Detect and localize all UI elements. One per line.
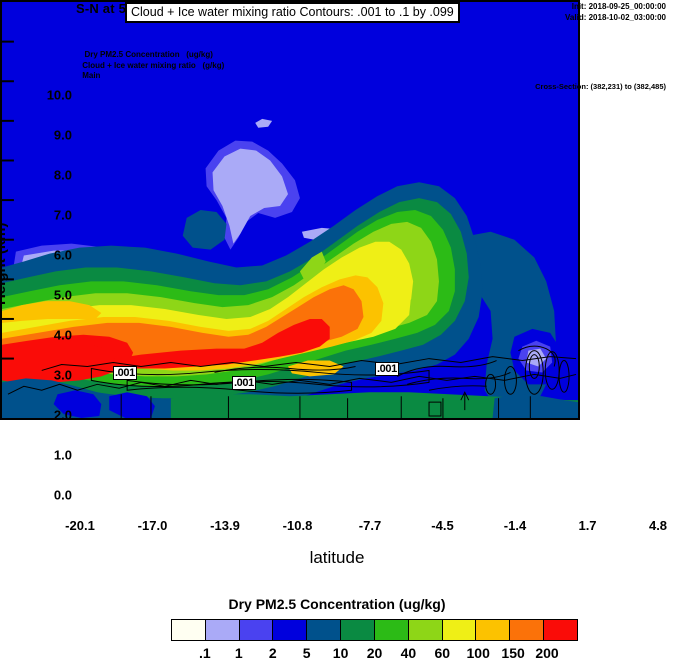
colorbar-title: Dry PM2.5 Concentration (ug/kg) — [0, 596, 674, 612]
x-tick-5: -4.5 — [431, 518, 453, 533]
x-tick-0: -20.1 — [65, 518, 95, 533]
colorbar-tick-5: 20 — [367, 645, 383, 661]
x-tick-3: -10.8 — [283, 518, 313, 533]
x-tick-1: -17.0 — [138, 518, 168, 533]
y-tick-9: 9.0 — [54, 128, 72, 143]
colorbar-tick-3: 5 — [303, 645, 311, 661]
colorbar-swatch-0 — [172, 620, 206, 640]
contour-label-3: .001 — [375, 362, 399, 376]
field-description-block: Dry PM2.5 Concentration (ug/kg) Cloud + … — [80, 50, 224, 82]
y-tick-4: 4.0 — [54, 328, 72, 343]
colorbar-tick-2: 2 — [269, 645, 277, 661]
x-tick-2: -13.9 — [210, 518, 240, 533]
colorbar-swatch-6 — [375, 620, 409, 640]
y-axis-tick-labels: 0.0 1.0 2.0 3.0 4.0 5.0 6.0 7.0 8.0 9.0 … — [0, 95, 72, 515]
colorbar-swatch-5 — [341, 620, 375, 640]
colorbar-swatch-2 — [240, 620, 274, 640]
colorbar-tick-9: 150 — [501, 645, 524, 661]
y-tick-5: 5.0 — [54, 288, 72, 303]
x-axis-tick-labels: -20.1 -17.0 -13.9 -10.8 -7.7 -4.5 -1.4 1… — [80, 518, 660, 538]
y-tick-8: 8.0 — [54, 168, 72, 183]
colorbar-swatch-3 — [273, 620, 307, 640]
valid-time-label: Valid: 2018-10-02_03:00:00 — [565, 12, 666, 23]
y-tick-2: 2.0 — [54, 408, 72, 423]
y-tick-6: 6.0 — [54, 248, 72, 263]
x-tick-7: 1.7 — [578, 518, 596, 533]
colorbar-tick-10: 200 — [535, 645, 558, 661]
y-tick-1: 1.0 — [54, 448, 72, 463]
cross-section-coords: Cross-Section: (382,231) to (382,485) — [535, 82, 666, 91]
colorbar-tick-1: 1 — [235, 645, 243, 661]
x-tick-6: -1.4 — [504, 518, 526, 533]
colorbar[interactable] — [171, 619, 578, 641]
colorbar-swatch-10 — [510, 620, 544, 640]
colorbar-swatch-7 — [409, 620, 443, 640]
colorbar-swatch-1 — [206, 620, 240, 640]
x-tick-8: 4.8 — [649, 518, 667, 533]
y-tick-0: 0.0 — [54, 488, 72, 503]
contour-label-2: .001 — [232, 376, 256, 390]
contour-legend-box: Cloud + Ice water mixing ratio Contours:… — [125, 2, 460, 23]
colorbar-tick-8: 100 — [467, 645, 490, 661]
x-tick-4: -7.7 — [359, 518, 381, 533]
colorbar-swatch-4 — [307, 620, 341, 640]
contour-label-1: .001 — [113, 366, 137, 380]
colorbar-swatch-11 — [544, 620, 577, 640]
colorbar-swatch-9 — [476, 620, 510, 640]
colorbar-tick-7: 60 — [435, 645, 451, 661]
y-tick-10: 10.0 — [47, 88, 72, 103]
x-axis-title: latitude — [0, 548, 674, 568]
colorbar-swatch-8 — [443, 620, 477, 640]
colorbar-tick-4: 10 — [333, 645, 349, 661]
colorbar-tick-labels: .1 1 2 5 10 20 40 60 100 150 200 — [171, 645, 578, 665]
init-time-label: Init: 2018-09-25_00:00:00 — [565, 1, 666, 12]
colorbar-tick-6: 40 — [401, 645, 417, 661]
colorbar-tick-0: .1 — [199, 645, 211, 661]
y-tick-3: 3.0 — [54, 368, 72, 383]
run-time-block: Init: 2018-09-25_00:00:00 Valid: 2018-10… — [565, 1, 666, 23]
y-tick-7: 7.0 — [54, 208, 72, 223]
